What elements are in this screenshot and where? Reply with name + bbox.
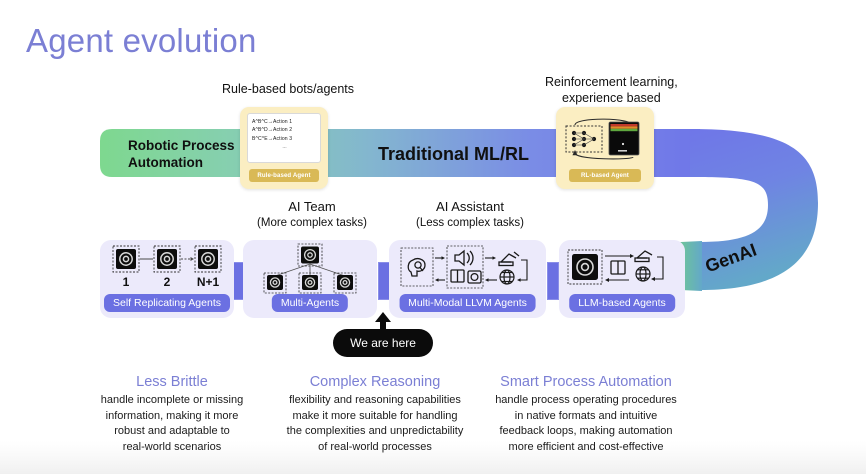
rule-list-panel: A^B^C→Action 1 A^B^D→Action 2 B^C^E→Acti… <box>247 113 321 163</box>
multi-agents-diagram-icon <box>243 240 377 298</box>
benefit-body: flexibility and reasoning capabilities m… <box>275 393 475 455</box>
section-head-subtitle: (More complex tasks) <box>247 216 377 231</box>
llm-based-agents-card[interactable]: LLM-based Agents <box>559 240 685 318</box>
rl-based-agent-card[interactable]: RL-based Agent <box>556 107 654 189</box>
benefit-line: handle process operating procedures <box>477 393 695 409</box>
band-label-traditional-ml: Traditional ML/RL <box>378 143 529 166</box>
rule-line: A^B^D→Action 2 <box>252 126 317 134</box>
benefit-line: handle incomplete or missing <box>68 393 276 409</box>
benefit-line: in native formats and intuitive <box>477 409 695 425</box>
section-head-ai-assistant: AI Assistant (Less complex tasks) <box>405 199 535 231</box>
self-replicating-agents-card[interactable]: 1 2 N+1 Self Replicating Agents <box>100 240 234 318</box>
benefit-column-less-brittle: Less Brittle handle incomplete or missin… <box>68 374 276 455</box>
rule-line: B^C^E→Action 3 <box>252 135 317 143</box>
benefit-line: robust and adaptable to <box>68 424 276 440</box>
benefit-column-complex-reasoning: Complex Reasoning flexibility and reason… <box>275 374 475 455</box>
caption-rl-line2: experience based <box>545 90 678 106</box>
benefit-body: handle process operating procedures in n… <box>477 393 695 455</box>
self-replicating-agents-tag: Self Replicating Agents <box>104 294 230 312</box>
llm-based-agents-tag: LLM-based Agents <box>569 294 675 312</box>
multimodal-llvm-agents-tag: Multi-Modal LLVM Agents <box>399 294 536 312</box>
section-head-title: AI Assistant <box>405 199 535 216</box>
section-head-subtitle: (Less complex tasks) <box>405 216 535 231</box>
multi-agents-tag: Multi-Agents <box>272 294 348 312</box>
rule-based-agent-card[interactable]: A^B^C→Action 1 A^B^D→Action 2 B^C^E→Acti… <box>240 107 328 189</box>
caption-rule-based-text: Rule-based bots/agents <box>222 81 354 97</box>
self-replicating-diagram-icon: 1 2 N+1 <box>100 240 234 298</box>
benefit-line: information, making it more <box>68 409 276 425</box>
caption-rule-based: Rule-based bots/agents <box>222 81 354 97</box>
benefit-column-smart-process-automation: Smart Process Automation handle process … <box>477 374 695 455</box>
benefit-line: real-world scenarios <box>68 440 276 456</box>
benefit-body: handle incomplete or missing information… <box>68 393 276 455</box>
benefit-line: feedback loops, making automation <box>477 424 695 440</box>
caption-reinforcement: Reinforcement learning, experience based <box>545 74 678 106</box>
benefit-line: flexibility and reasoning capabilities <box>275 393 475 409</box>
rl-diagram-icon <box>563 113 647 161</box>
card-connector <box>547 262 559 300</box>
benefit-heading: Smart Process Automation <box>477 374 695 390</box>
benefit-line: the complexities and unpredictability <box>275 424 475 440</box>
benefit-line: make it more suitable for handling <box>275 409 475 425</box>
multi-agents-card[interactable]: Multi-Agents <box>243 240 377 318</box>
self-node-label: N+1 <box>197 275 220 289</box>
llm-based-diagram-icon <box>559 240 685 298</box>
section-head-ai-team: AI Team (More complex tasks) <box>247 199 377 231</box>
self-node-label: 1 <box>123 275 130 289</box>
benefit-heading: Less Brittle <box>68 374 276 390</box>
benefit-line: of real-world processes <box>275 440 475 456</box>
benefit-line: more efficient and cost-effective <box>477 440 695 456</box>
rule-ellipsis: ... <box>252 144 317 150</box>
caption-rl-line1: Reinforcement learning, <box>545 74 678 90</box>
we-are-here-label: We are here <box>350 336 416 350</box>
we-are-here-marker[interactable]: We are here <box>333 329 433 357</box>
rule-based-agent-tag: Rule-based Agent <box>249 169 318 182</box>
benefit-heading: Complex Reasoning <box>275 374 475 390</box>
self-node-label: 2 <box>164 275 171 289</box>
multimodal-diagram-icon <box>389 240 546 298</box>
rule-line: A^B^C→Action 1 <box>252 118 317 126</box>
slide-canvas: Agent evolution <box>0 0 866 474</box>
rl-based-agent-tag: RL-based Agent <box>569 169 641 182</box>
multimodal-llvm-agents-card[interactable]: Multi-Modal LLVM Agents <box>389 240 546 318</box>
section-head-title: AI Team <box>247 199 377 216</box>
